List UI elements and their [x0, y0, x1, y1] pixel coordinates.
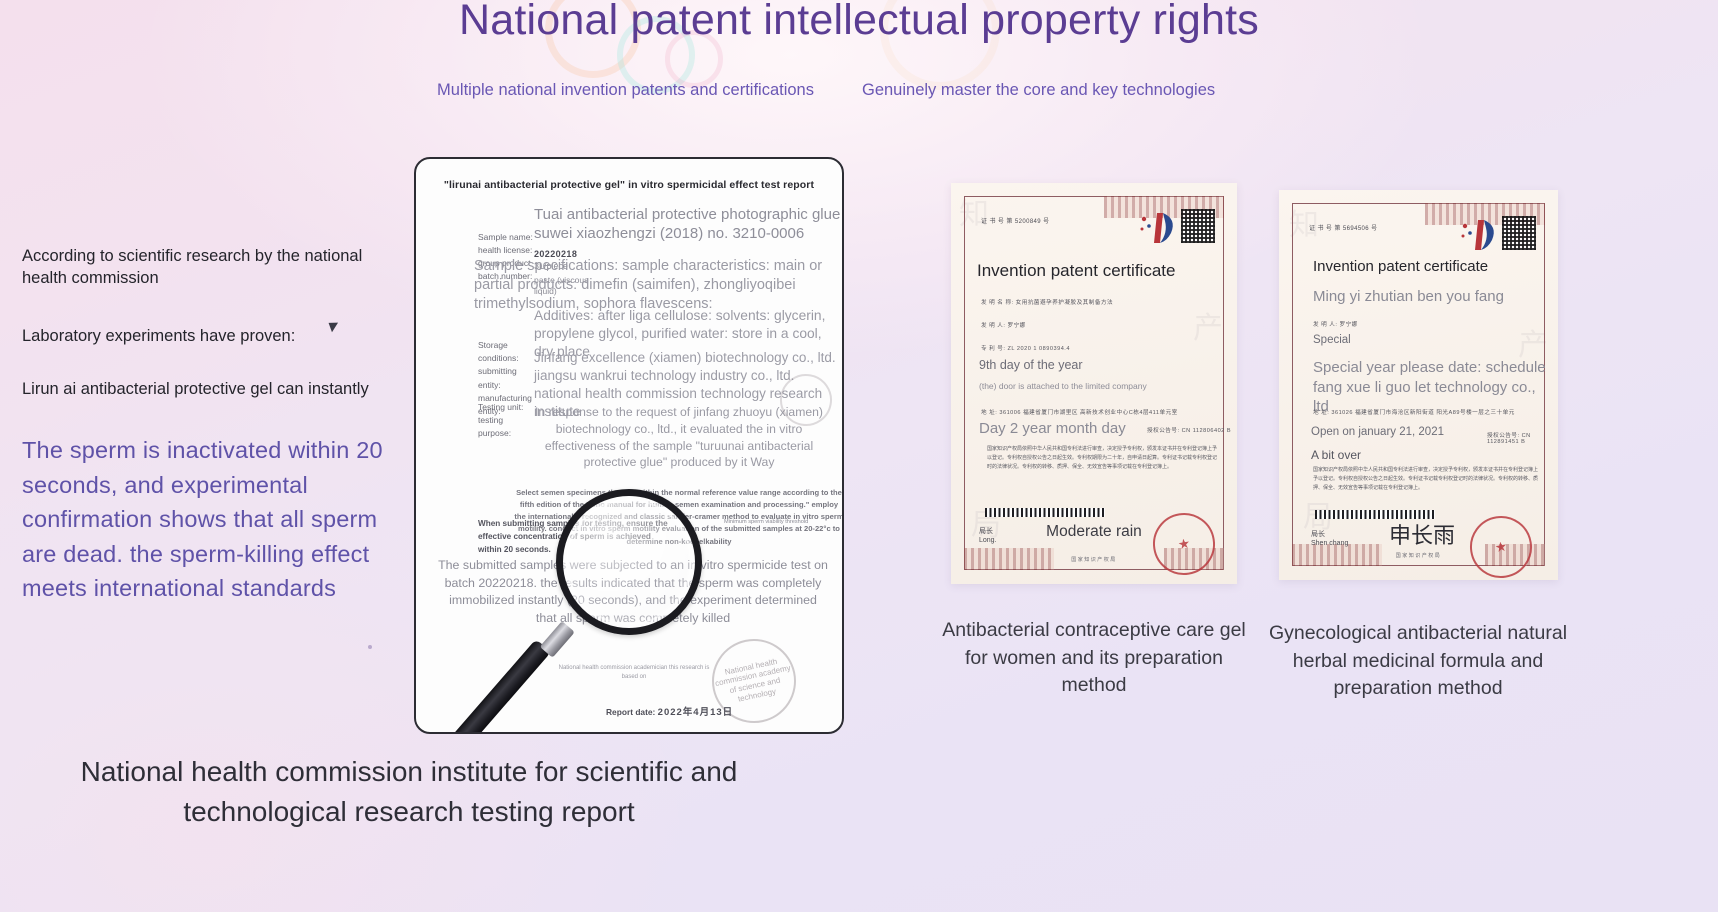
certificate-body-1: 国家知识产权局依照中华人民共和国专利法进行审查，决定授予专利权，颁发本证书并在专…	[987, 445, 1219, 471]
report-date-row: Report date: 2022年4月13日	[606, 704, 733, 718]
invention-name-line-1: 发 明 名 称: 女用抗菌避孕养护凝胶及其制备方法	[981, 298, 1113, 306]
certificate-heading-1: Invention patent certificate	[977, 261, 1221, 281]
certificate-authorize-1: 授权公告号: CN 112806402 B	[1147, 426, 1231, 434]
left-copy-column: According to scientific research by the …	[22, 246, 394, 606]
certificate-address-1: 地 址: 361006 福建省厦门市湖里区 高新技术创业中心C栋4层411单元室	[981, 408, 1223, 416]
report-threshold-note: Minimum sperm viability threshold	[724, 519, 840, 527]
certificate-footer-cn-1: 国家知识产权局	[951, 556, 1237, 563]
certificate-door-note-1: (the) door is attached to the limited co…	[979, 381, 1147, 391]
magnifier-lens	[556, 489, 702, 635]
report-specifications: Sample specifications: sample characteri…	[474, 257, 844, 314]
highlight-claim-text: The sperm is inactivated within 20 secon…	[22, 433, 394, 606]
certificate-number-1: 证 书 号 第 5200849 号	[981, 216, 1050, 225]
certificate-authorize-2: 授权公告号: CN 112891451 B	[1487, 431, 1558, 445]
patent-certificate-1[interactable]: 知 产 局 证 书 号 第 5200849 号 Invention patent…	[951, 183, 1237, 584]
subheading-right: Genuinely master the core and key techno…	[862, 81, 1215, 100]
subheading-row: Multiple national invention patents and …	[0, 81, 1718, 107]
patent-certificate-2[interactable]: 知 产 局 证 书 号 第 5694506 号 Invention patent…	[1279, 190, 1558, 580]
certificate-body-2: 国家知识产权局依照中华人民共和国专利法进行审查，决定授予专利权，颁发本证书并在专…	[1313, 466, 1540, 492]
certificate-signature-label-2: 局长 Shen chang	[1311, 530, 1348, 549]
decorative-dot	[368, 645, 372, 649]
magnifier-handle	[438, 639, 552, 734]
test-report-card[interactable]: "lirunai antibacterial protective gel" i…	[414, 157, 844, 734]
bottom-caption: National health commission institute for…	[0, 752, 818, 832]
certificate-date-1: 9th day of the year	[979, 358, 1083, 372]
cnipa-logo-icon-2	[1448, 216, 1500, 256]
certificate-special-label-2: Special	[1313, 334, 1351, 346]
certificate-caption-2: Gynecological antibacterial natural herb…	[1258, 620, 1578, 703]
report-title: "lirunai antibacterial protective gel" i…	[416, 179, 842, 191]
certificate-footer-cn-2: 国家知识产权局	[1279, 552, 1558, 559]
inventor-line-1: 发 明 人: 罗宁娜	[981, 321, 1026, 329]
certificate-signature-cn-2: 申长雨	[1389, 518, 1455, 550]
page-title: National patent intellectual property ri…	[0, 0, 1718, 45]
report-date-label: Report date:	[606, 707, 655, 717]
report-footnote: National health commission academician t…	[554, 664, 714, 681]
report-date-value: 2022年4月13日	[658, 707, 733, 718]
product-claim-text: Lirun ai antibacterial protective gel ca…	[22, 379, 394, 401]
certificate-caption-1: Antibacterial contraceptive care gel for…	[934, 617, 1254, 700]
certificate-heading-2: Invention patent certificate	[1313, 258, 1542, 275]
qr-code-icon-1	[1181, 209, 1215, 243]
barcode-1	[985, 508, 1105, 517]
qr-code-icon-2	[1502, 216, 1536, 250]
certificate-subheading-2: Ming yi zhutian ben you fang	[1313, 288, 1504, 305]
subheading-left: Multiple national invention patents and …	[437, 81, 814, 100]
cnipa-logo-icon-1	[1127, 209, 1179, 249]
certificate-number-2: 证 书 号 第 5694506 号	[1309, 223, 1378, 232]
certificate-a-bit-over-2: A bit over	[1311, 448, 1361, 462]
certificate-open-date-2: Open on january 21, 2021	[1311, 426, 1444, 438]
research-source-text: According to scientific research by the …	[22, 246, 394, 290]
certificate-address-2: 地 址: 361026 福建省厦门市海沧区新阳街道 阳光A89号楼一层之三十单元	[1313, 408, 1546, 416]
inventor-line-2: 发 明 人: 罗宁娜	[1313, 320, 1358, 328]
patent-number-line-1: 专 利 号: ZL 2020 1 0890394.4	[981, 344, 1070, 352]
report-sample-name: Tuai antibacterial protective photograph…	[534, 205, 844, 243]
certificate-date2-1: Day 2 year month day	[979, 420, 1126, 437]
